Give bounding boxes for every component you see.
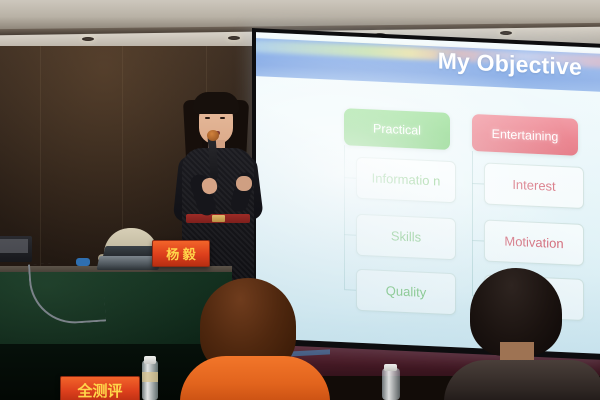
speaker-eye xyxy=(220,117,225,119)
diagram-item-information: Informatio n xyxy=(356,157,456,204)
diagram-head-entertaining: Entertaining xyxy=(472,114,578,156)
speaker-hand-right xyxy=(236,176,252,191)
diagram-item-label: Interest xyxy=(512,178,555,193)
nameplate-front-text: 全测评 xyxy=(77,380,122,400)
diagram-item-label: Informatio n xyxy=(372,172,441,188)
diagram-item-motivation: Motivation xyxy=(484,220,584,267)
nameplate-speaker-text: 杨 毅 xyxy=(166,244,196,263)
speaker-eye xyxy=(205,117,210,119)
diagram-item-interest: Interest xyxy=(484,163,584,210)
diagram-head-label: Practical xyxy=(373,121,421,137)
audience-member-orange xyxy=(186,278,316,400)
audience-member-dark xyxy=(448,268,598,400)
diagram-item-label: Quality xyxy=(386,284,426,299)
diagram-head-practical: Practical xyxy=(344,108,450,150)
water-bottle-label xyxy=(142,372,158,382)
diagram-item-label: Motivation xyxy=(504,235,563,251)
water-bottle-cap xyxy=(384,364,397,371)
water-bottle xyxy=(382,368,400,400)
connector-vertical xyxy=(344,145,345,289)
downlight-icon xyxy=(228,36,240,40)
audience-dark-shirt xyxy=(444,360,600,400)
connector-branch xyxy=(344,234,356,236)
diagram-item-quality: Quality xyxy=(356,269,456,316)
microphone-head-icon xyxy=(207,130,219,141)
nameplate-front-table: 全测评 xyxy=(60,376,140,400)
cable-plug xyxy=(76,258,90,266)
nameplate-speaker: 杨 毅 xyxy=(152,240,210,267)
connector-branch xyxy=(472,183,484,185)
side-monitor-screen xyxy=(0,239,28,253)
speaker-belt-buckle xyxy=(212,215,225,222)
water-bottle-cap xyxy=(144,356,156,364)
diagram-item-label: Skills xyxy=(391,230,421,245)
diagram-item-skills: Skills xyxy=(356,214,456,261)
connector-branch xyxy=(344,177,356,179)
speaker-bangs xyxy=(193,92,239,114)
connector-branch xyxy=(472,240,484,242)
audience-orange-jacket xyxy=(180,356,330,400)
conference-room-photo: My Objective Practical Informatio n S xyxy=(0,0,600,400)
diagram-head-label: Entertaining xyxy=(492,126,559,143)
downlight-icon xyxy=(500,31,512,35)
connector-branch xyxy=(344,289,356,291)
downlight-icon xyxy=(82,37,94,41)
